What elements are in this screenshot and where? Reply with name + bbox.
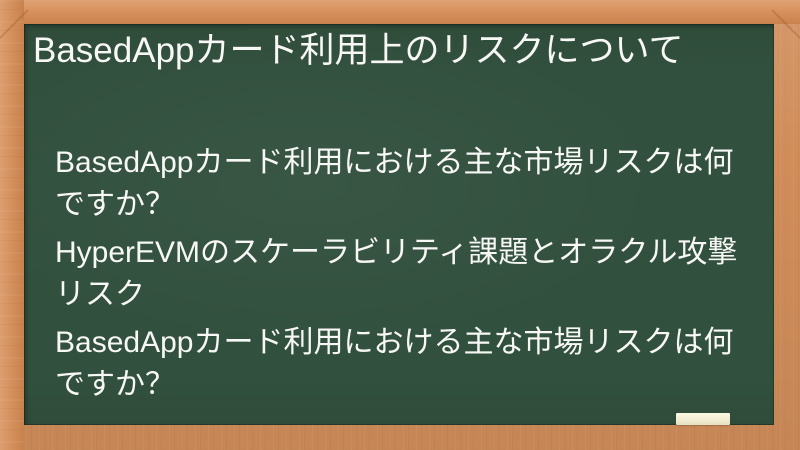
chalkboard-surface: BasedAppカード利用上のリスクについて BasedAppカード利用における… (24, 24, 774, 425)
risk-question-list: BasedAppカード利用における主な市場リスクは何ですか？ HyperEVMの… (55, 142, 761, 412)
frame-miter-top-right (771, 9, 800, 39)
list-item[interactable]: HyperEVMのスケーラビリティ課題とオラクル攻撃リスク (55, 232, 761, 316)
frame-right-molding (774, 0, 800, 450)
frame-left-molding (0, 0, 24, 450)
chalk-stick-icon (676, 413, 730, 425)
list-item[interactable]: BasedAppカード利用における主な市場リスクは何ですか？ (55, 322, 761, 406)
frame-top-molding (0, 0, 800, 24)
page-title: BasedAppカード利用上のリスクについて (33, 27, 763, 74)
chalkboard-frame: BasedAppカード利用上のリスクについて BasedAppカード利用における… (0, 0, 800, 450)
list-item[interactable]: BasedAppカード利用における主な市場リスクは何ですか？ (55, 142, 761, 226)
